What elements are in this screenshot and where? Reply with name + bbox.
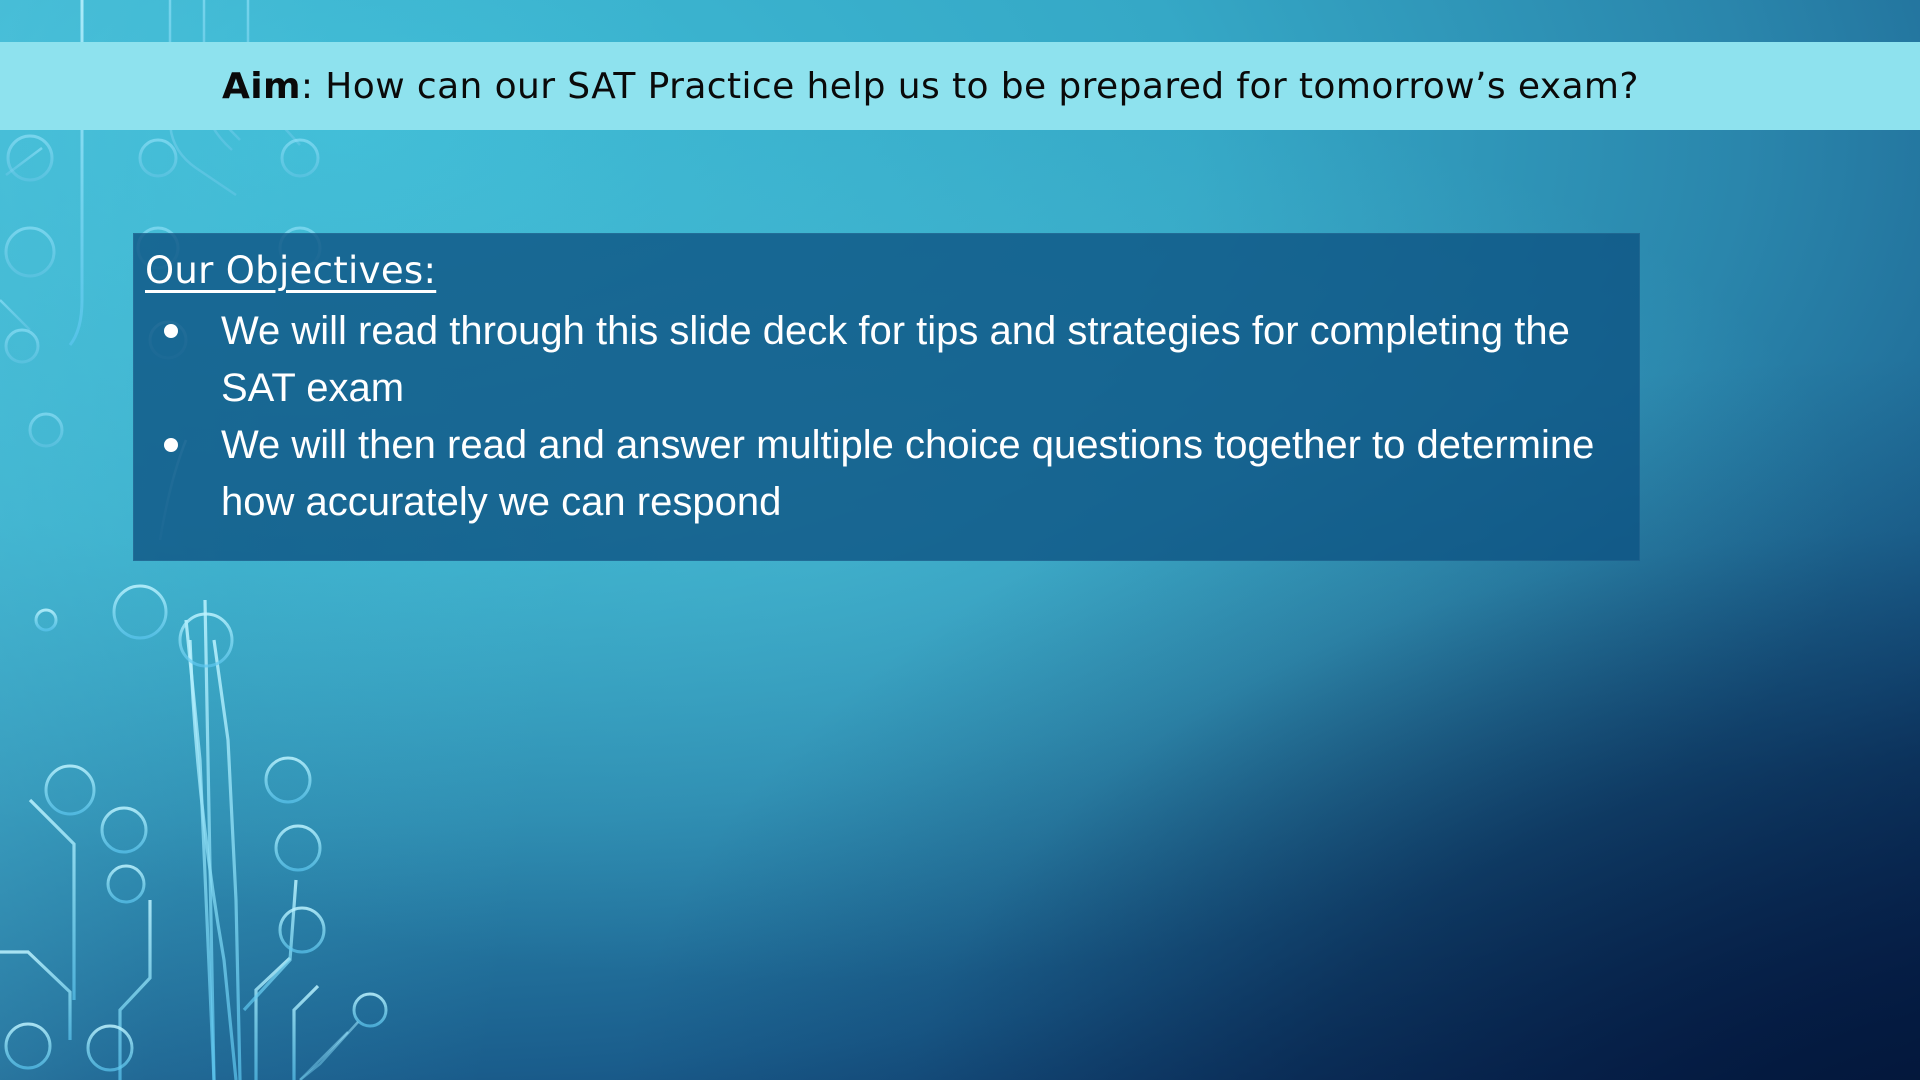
list-item-text: We will then read and answer multiple ch… <box>221 423 1594 524</box>
slide-title-band: Aim: How can our SAT Practice help us to… <box>0 42 1920 130</box>
objectives-list: We will read through this slide deck for… <box>147 303 1620 531</box>
bullet-dot-icon <box>164 438 178 452</box>
list-item-text: We will read through this slide deck for… <box>221 309 1570 410</box>
objectives-heading: Our Objectives: <box>145 249 436 292</box>
presentation-slide: Aim: How can our SAT Practice help us to… <box>0 0 1920 1080</box>
objectives-panel: Our Objectives: We will read through thi… <box>133 233 1640 561</box>
title-aim-label: Aim <box>222 66 301 107</box>
page-title: Aim: How can our SAT Practice help us to… <box>222 66 1639 107</box>
title-question-text: : How can our SAT Practice help us to be… <box>301 66 1639 107</box>
list-item: We will then read and answer multiple ch… <box>147 417 1620 531</box>
bullet-dot-icon <box>164 324 178 338</box>
list-item: We will read through this slide deck for… <box>147 303 1620 417</box>
